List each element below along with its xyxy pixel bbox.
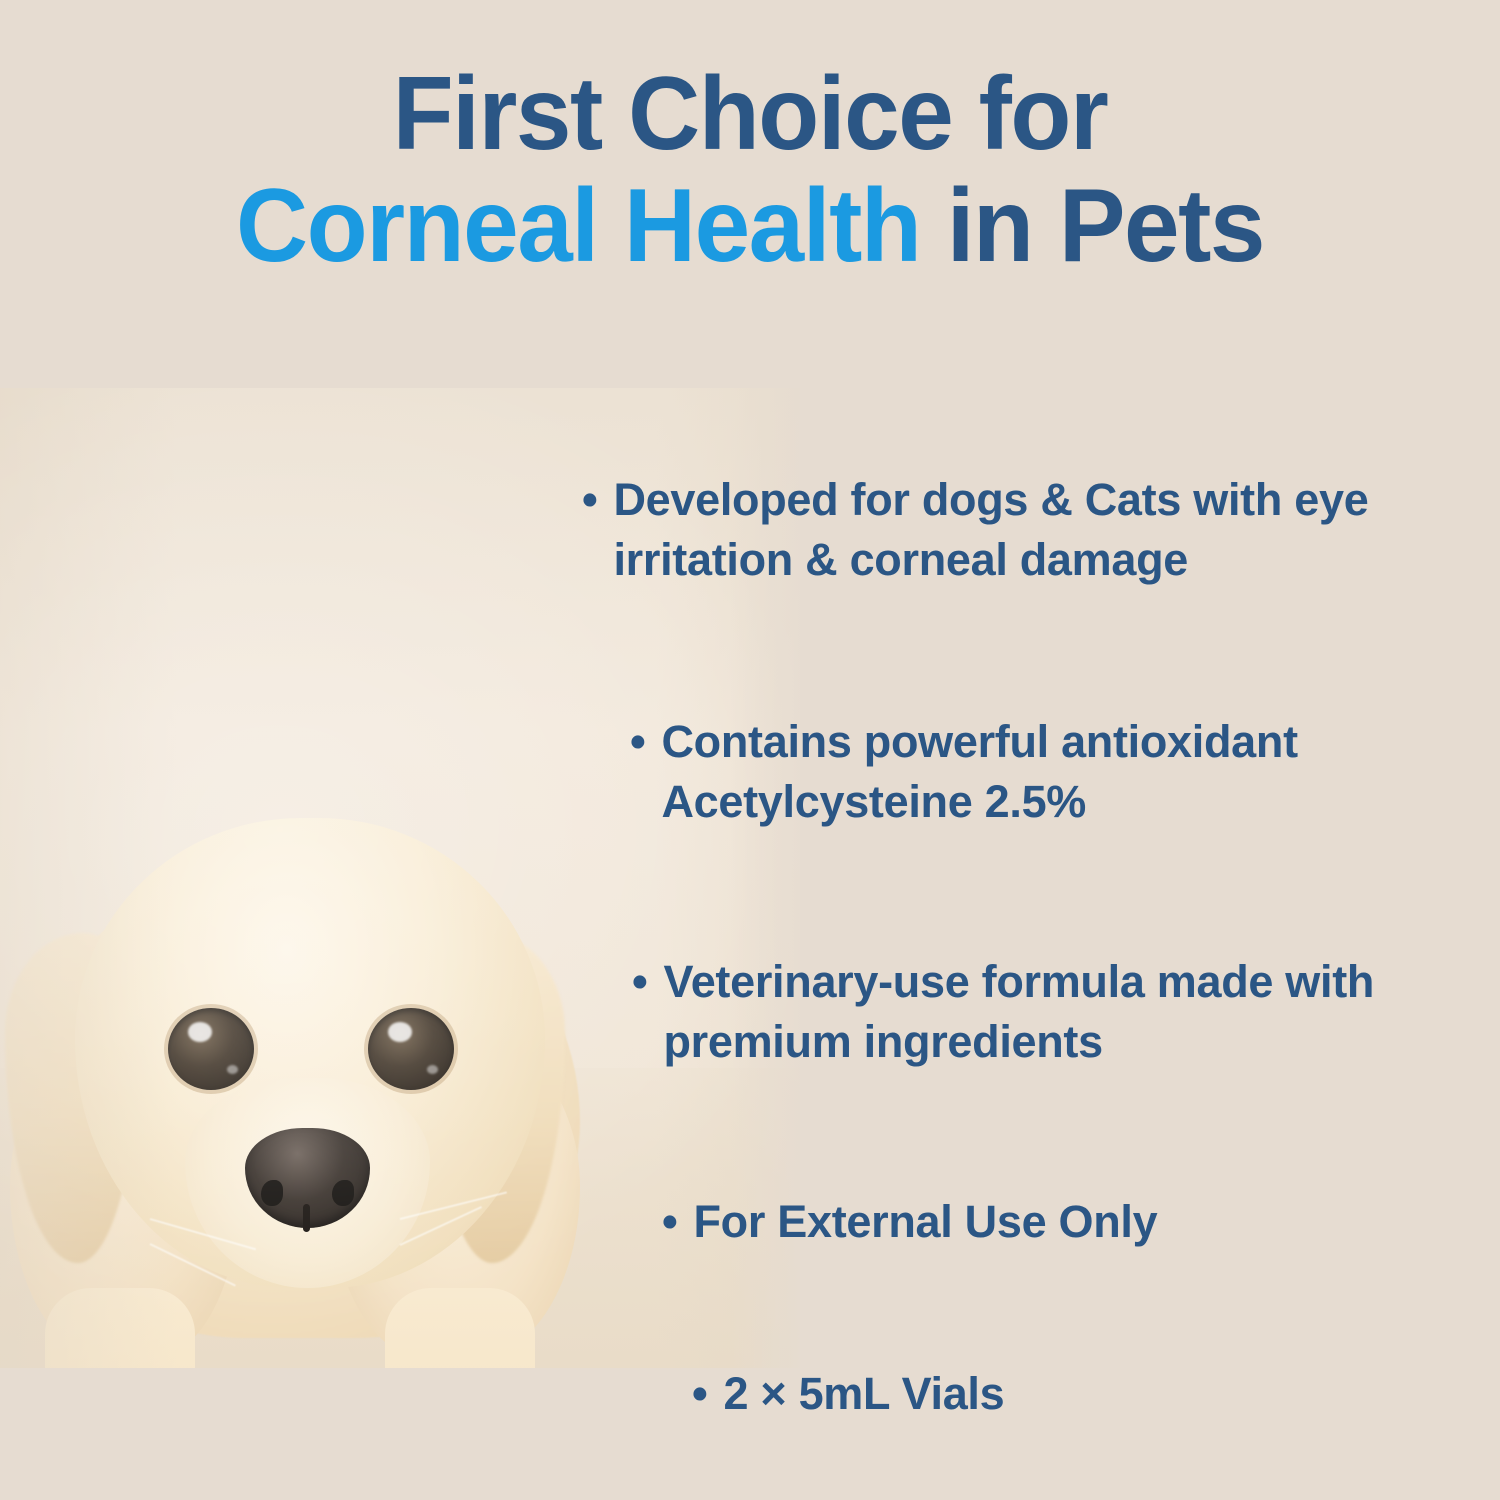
list-item: • Veterinary-use formula made with premi… (632, 952, 1480, 1072)
headline-line-2: Corneal Health in Pets (30, 170, 1470, 282)
puppy-right-eye (368, 1008, 454, 1090)
headline-line-1: First Choice for (30, 58, 1470, 170)
list-item: • Contains powerful antioxidant Acetylcy… (630, 712, 1480, 832)
bullet-text: 2 × 5mL Vials (723, 1364, 1004, 1424)
bullet-marker-icon: • (630, 712, 645, 772)
puppy-right-leg (385, 1288, 535, 1368)
feature-bullet-list: • Developed for dogs & Cats with eye irr… (560, 470, 1480, 1424)
bullet-marker-icon: • (662, 1192, 677, 1252)
bullet-marker-icon: • (582, 470, 597, 530)
headline-highlight: Corneal Health (236, 168, 920, 284)
list-item: • 2 × 5mL Vials (692, 1364, 1480, 1424)
puppy-left-eye (168, 1008, 254, 1090)
list-item: • For External Use Only (662, 1192, 1480, 1252)
bullet-marker-icon: • (632, 952, 647, 1012)
puppy-left-leg (45, 1288, 195, 1368)
list-item: • Developed for dogs & Cats with eye irr… (582, 470, 1480, 590)
page-headline: First Choice for Corneal Health in Pets (0, 58, 1500, 282)
headline-line-2-rest: in Pets (920, 168, 1264, 284)
bullet-text: Veterinary-use formula made with premium… (663, 952, 1480, 1072)
bullet-text: Contains powerful antioxidant Acetylcyst… (661, 712, 1480, 832)
bullet-text: Developed for dogs & Cats with eye irrit… (613, 470, 1480, 590)
bullet-marker-icon: • (692, 1364, 707, 1424)
bullet-text: For External Use Only (693, 1192, 1157, 1252)
